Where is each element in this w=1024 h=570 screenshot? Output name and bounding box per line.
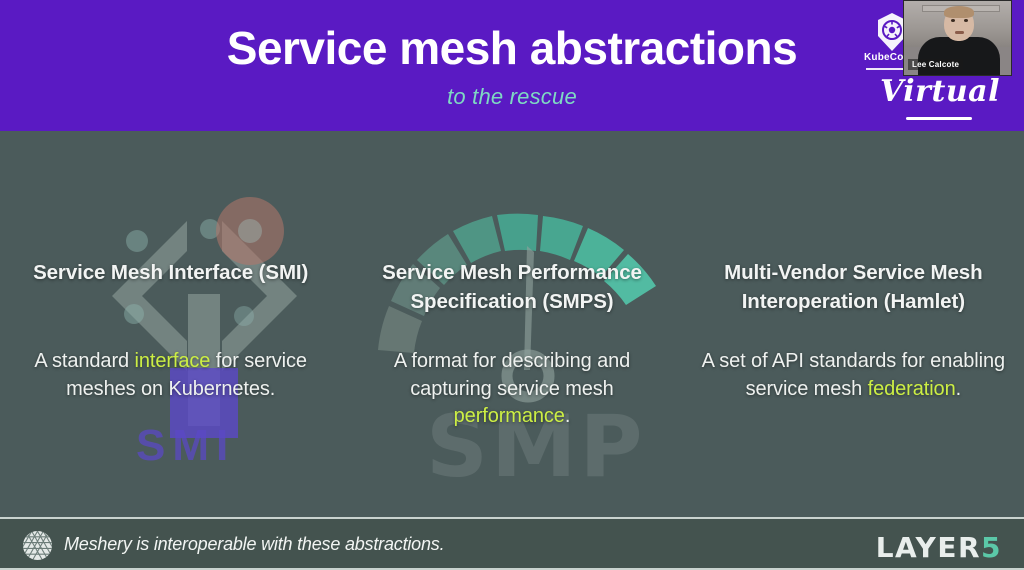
column-smi-body: A standard interface for service meshes … [12, 348, 329, 403]
column-smps-body-before: A format for describing and capturing se… [394, 350, 630, 400]
column-smps: Service Mesh Performance Specification (… [341, 131, 682, 517]
speaker-eye-right [964, 19, 968, 22]
speaker-eye-left [951, 19, 955, 22]
slide-header: Service mesh abstractions to the rescue … [0, 0, 1024, 131]
column-hamlet-body: A set of API standards for enabling serv… [695, 348, 1012, 403]
column-hamlet-highlight: federation [868, 378, 956, 400]
column-smps-body: A format for describing and capturing se… [353, 348, 670, 431]
column-smi-highlight: interface [135, 350, 211, 372]
speaker-mouth [955, 31, 964, 34]
column-smi-body-before: A standard [34, 350, 134, 372]
virtual-underline [906, 117, 972, 120]
virtual-label: Virtual [878, 74, 1002, 109]
column-hamlet-body-after: . [956, 378, 961, 400]
column-smps-body-after: . [565, 405, 570, 427]
column-hamlet: Multi-Vendor Service Mesh Interoperation… [683, 131, 1024, 517]
speaker-hair [944, 6, 974, 18]
layer5-digit: 5 [981, 531, 1002, 564]
footer-caption: Meshery is interoperable with these abst… [64, 534, 444, 555]
abstraction-columns: Service Mesh Interface (SMI) A standard … [0, 131, 1024, 517]
layer5-wordmark: LAYER [876, 531, 981, 564]
column-smps-title: Service Mesh Performance Specification (… [357, 258, 666, 316]
slide-body: SMI [0, 131, 1024, 517]
column-smi-title: Service Mesh Interface (SMI) [16, 258, 325, 287]
speaker-video-tile[interactable]: Lee Calcote [903, 0, 1012, 76]
slide-footer: Meshery is interoperable with these abst… [0, 517, 1024, 570]
layer5-logo: LAYER5 [876, 531, 1002, 564]
column-hamlet-title: Multi-Vendor Service Mesh Interoperation… [699, 258, 1008, 316]
speaker-name-label: Lee Calcote [908, 59, 963, 70]
column-smi: Service Mesh Interface (SMI) A standard … [0, 131, 341, 517]
presentation-slide: Service mesh abstractions to the rescue … [0, 0, 1024, 570]
column-smps-highlight: performance [454, 405, 565, 427]
speaker-torso [918, 37, 1000, 76]
meshery-logo-icon [22, 530, 53, 561]
